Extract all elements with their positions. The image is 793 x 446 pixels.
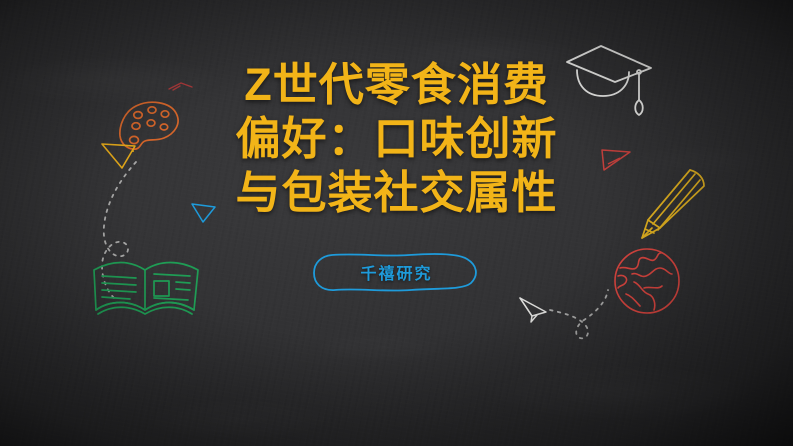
slide-canvas: Z世代零食消费 偏好：口味创新 与包装社交属性 千禧研究 (0, 0, 793, 446)
brand-badge[interactable]: 千禧研究 (311, 252, 483, 292)
title-line-3: 与包装社交属性 (235, 166, 557, 220)
title-line-2: 偏好：口味创新 (235, 112, 557, 166)
title-line-1: Z世代零食消费 (235, 58, 557, 112)
slide-content: Z世代零食消费 偏好：口味创新 与包装社交属性 千禧研究 (0, 58, 793, 292)
badge-label: 千禧研究 (360, 260, 432, 284)
page-title: Z世代零食消费 偏好：口味创新 与包装社交属性 (235, 58, 557, 220)
